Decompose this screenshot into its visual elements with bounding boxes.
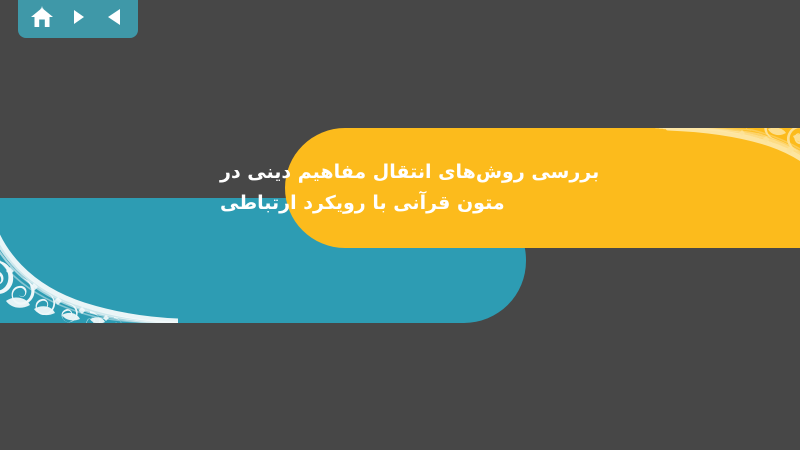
home-icon bbox=[30, 6, 54, 28]
triangle-left-icon bbox=[105, 7, 123, 27]
arabesque-corner-ornament-yellow bbox=[650, 128, 800, 248]
previous-slide-button[interactable] bbox=[99, 2, 129, 32]
triangle-right-icon bbox=[71, 7, 85, 27]
slide-navigation-toolbar bbox=[18, 0, 138, 38]
next-slide-button[interactable] bbox=[63, 2, 93, 32]
presentation-slide: بررسی روش‌های انتقال مفاهیم دینی در متون… bbox=[0, 0, 800, 450]
home-button[interactable] bbox=[27, 2, 57, 32]
yellow-title-banner bbox=[285, 128, 800, 248]
arabesque-corner-ornament-teal bbox=[0, 205, 178, 323]
